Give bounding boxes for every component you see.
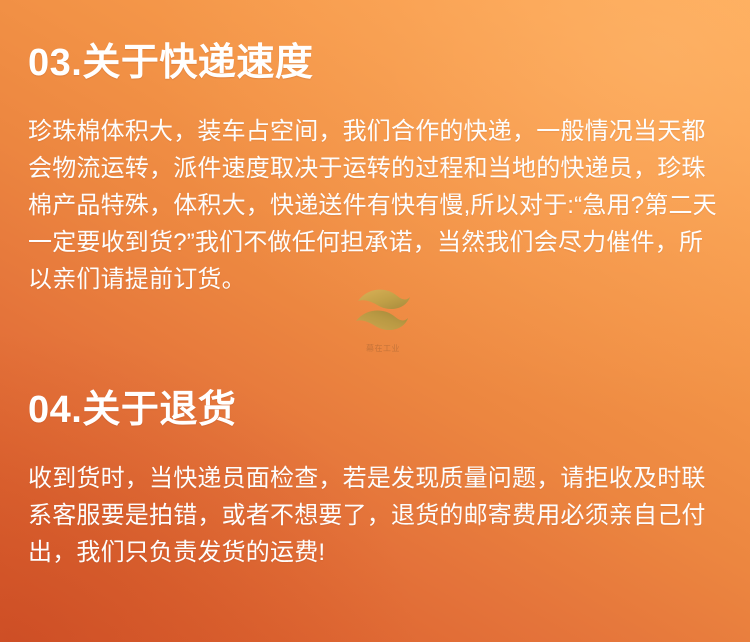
content-column: 03.关于快递速度 珍珠棉体积大，装车占空间，我们合作的快递，一般情况当天都会物…: [0, 0, 750, 642]
section-body-03: 珍珠棉体积大，装车占空间，我们合作的快递，一般情况当天都会物流运转，派件速度取决…: [28, 113, 726, 298]
section-body-04: 收到货时，当快递员面检查，若是发现质量问题，请拒收及时联系客服要是拍错，或者不想…: [28, 460, 726, 571]
section-heading-04: 04.关于退货: [28, 391, 726, 429]
section-heading-03: 03.关于快递速度: [28, 44, 726, 82]
section-shipping-speed: 03.关于快递速度 珍珠棉体积大，装车占空间，我们合作的快递，一般情况当天都会物…: [28, 0, 726, 298]
product-detail-page: 幕在工业 03.关于快递速度 珍珠棉体积大，装车占空间，我们合作的快递，一般情况…: [0, 0, 750, 642]
section-returns: 04.关于退货 收到货时，当快递员面检查，若是发现质量问题，请拒收及时联系客服要…: [28, 322, 726, 571]
section-tolerance: 05.关于误差 长度误差一般在正负5%，包装袋重量0.3KG左右，所标重量均为含…: [28, 595, 726, 642]
